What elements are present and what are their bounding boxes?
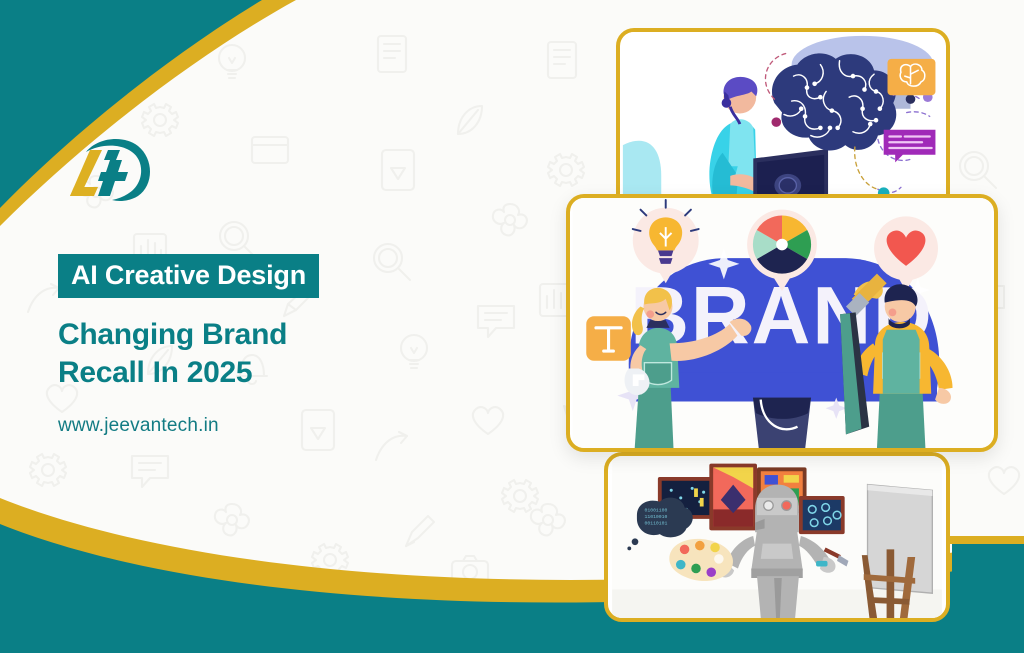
- jt-logo: [58, 138, 170, 210]
- svg-text:01001100: 01001100: [645, 507, 668, 513]
- headline-line-1: Changing Brand: [58, 316, 388, 354]
- ai-brain-workstation-illustration: [616, 28, 950, 222]
- framed-artwork-4: [799, 496, 845, 534]
- logo-teal-t: [104, 150, 120, 160]
- logo-gold-hook: [70, 187, 98, 196]
- svg-text:11010010: 11010010: [645, 514, 668, 520]
- text-tool-icon: [586, 316, 631, 361]
- title-band: AI Creative Design: [58, 254, 319, 298]
- headline-line-2: Recall In 2025: [58, 354, 388, 392]
- page-title: Changing Brand Recall In 2025: [58, 316, 388, 391]
- node-dot-navy: [906, 94, 916, 104]
- node-dot-magenta: [771, 117, 781, 127]
- brand-design-team-illustration: BRAND: [566, 194, 998, 452]
- paint-bucket: [753, 398, 811, 448]
- framed-artwork-2: [709, 464, 757, 531]
- poster-canvas: AI Creative Design Changing Brand Recall…: [0, 0, 1024, 653]
- headline-block: AI Creative Design Changing Brand Recall…: [58, 138, 388, 437]
- svg-text:00110101: 00110101: [645, 521, 668, 527]
- robot-artist-illustration: 01001100 11010010 00110101: [604, 452, 950, 622]
- brain-icon-card: [888, 59, 936, 95]
- logo-teal-t-cross: [98, 172, 128, 181]
- website-url: www.jeevantech.in: [58, 415, 388, 437]
